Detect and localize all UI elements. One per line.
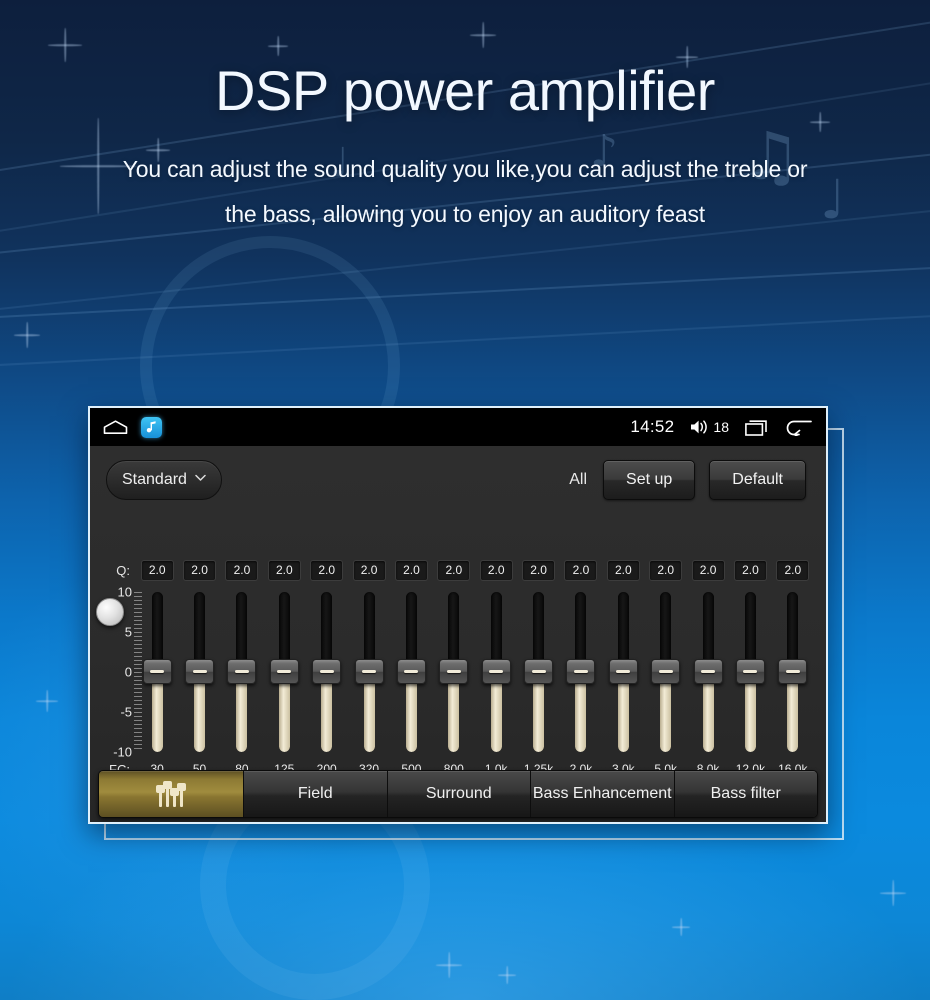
q-cell: 2.0 [221,560,263,581]
recents-icon[interactable] [745,419,769,436]
fader-fill [660,672,671,752]
fader-thumb[interactable] [439,659,468,684]
fader[interactable] [602,588,644,756]
fader-fill [236,672,247,752]
page-title: DSP power amplifier [0,62,930,121]
q-value-box[interactable]: 2.0 [564,560,597,581]
fader[interactable] [687,588,729,756]
scale-label: -5 [90,705,132,720]
q-cell: 2.0 [517,560,559,581]
all-label[interactable]: All [569,471,589,489]
dsp-equalizer-app: Standard All Set up Default Q: 2.02.02.0… [90,446,826,824]
fader-fill [406,672,417,752]
music-app-icon[interactable] [141,417,162,438]
fader-fill [321,672,332,752]
q-cell: 2.0 [602,560,644,581]
fader-thumb[interactable] [778,659,807,684]
q-value-box[interactable]: 2.0 [141,560,174,581]
q-value-box[interactable]: 2.0 [183,560,216,581]
sparkle-icon [14,322,40,348]
back-icon[interactable] [785,419,812,436]
android-status-bar: 14:52 18 [90,408,826,446]
equalizer-icon [159,781,183,807]
fader-fill [194,672,205,752]
q-value-box[interactable]: 2.0 [310,560,343,581]
fader[interactable] [306,588,348,756]
fader[interactable] [517,588,559,756]
fader[interactable] [772,588,814,756]
fader-fill [618,672,629,752]
q-value-box[interactable]: 2.0 [437,560,470,581]
fader-thumb[interactable] [566,659,595,684]
q-cell: 2.0 [772,560,814,581]
fader-fill [575,672,586,752]
q-value-box[interactable]: 2.0 [734,560,767,581]
q-cell: 2.0 [178,560,220,581]
fader-thumb[interactable] [524,659,553,684]
fader-fill [364,672,375,752]
sparkle-icon [880,880,906,906]
fader[interactable] [645,588,687,756]
staff-band [0,262,930,368]
fader-fill [152,672,163,752]
sparkle-icon [498,966,516,984]
sparkle-icon [470,22,496,48]
fader[interactable] [221,588,263,756]
fader-thumb[interactable] [694,659,723,684]
q-cell: 2.0 [475,560,517,581]
q-cell: 2.0 [560,560,602,581]
q-value-box[interactable]: 2.0 [692,560,725,581]
fader[interactable] [560,588,602,756]
fader-fill [703,672,714,752]
fader-fill [279,672,290,752]
fader-thumb[interactable] [651,659,680,684]
subtitle-line-2: the bass, allowing you to enjoy an audit… [0,192,930,238]
preset-label: Standard [122,471,187,489]
q-value-box[interactable]: 2.0 [268,560,301,581]
scale-label: 5 [90,625,132,640]
q-value-box[interactable]: 2.0 [776,560,809,581]
subtitle-line-1: You can adjust the sound quality you lik… [123,156,808,182]
master-gain-knob[interactable] [96,598,124,626]
q-cell: 2.0 [729,560,771,581]
q-cell: 2.0 [136,560,178,581]
fader-thumb[interactable] [185,659,214,684]
q-value-box[interactable]: 2.0 [225,560,258,581]
fader-fill [745,672,756,752]
promo-header: DSP power amplifier You can adjust the s… [0,62,930,238]
fader-thumb[interactable] [355,659,384,684]
tab-equalizer[interactable] [99,771,244,817]
fader-list [136,588,826,756]
volume-level: 18 [713,419,729,435]
q-cell: 2.0 [645,560,687,581]
preset-dropdown[interactable]: Standard [106,460,222,500]
fader-thumb[interactable] [312,659,341,684]
promo-page: ♫ ♩ ♪ ♩ DSP power amplifier You can adju… [0,0,930,1000]
q-cell: 2.0 [263,560,305,581]
tab-bass-filter[interactable]: Bass filter [675,771,818,817]
page-subtitle: You can adjust the sound quality you lik… [0,147,930,238]
sparkle-icon [36,690,58,712]
sparkle-icon [48,28,82,62]
q-cell: 2.0 [306,560,348,581]
bottom-tab-bar: FieldSurroundBass EnhancementBass filter [98,770,818,818]
fader-thumb[interactable] [270,659,299,684]
equalizer-toolbar: Standard All Set up Default [90,456,826,504]
q-value-box[interactable]: 2.0 [607,560,640,581]
q-value-box[interactable]: 2.0 [522,560,555,581]
q-cell: 2.0 [348,560,390,581]
q-value-box[interactable]: 2.0 [353,560,386,581]
fader[interactable] [433,588,475,756]
fader[interactable] [348,588,390,756]
fader-thumb[interactable] [227,659,256,684]
fader-thumb[interactable] [143,659,172,684]
fader-thumb[interactable] [736,659,765,684]
fader[interactable] [136,588,178,756]
fader-thumb[interactable] [397,659,426,684]
fader-fill [491,672,502,752]
volume-icon[interactable]: 18 [690,419,729,435]
status-clock: 14:52 [630,417,674,437]
fader[interactable] [263,588,305,756]
tab-field[interactable]: Field [244,771,388,817]
q-cell: 2.0 [390,560,432,581]
gain-scale: 1050-5-10 [90,588,136,756]
tab-bass-enhancement[interactable]: Bass Enhancement [531,771,675,817]
sparkle-icon [268,36,288,56]
q-row: Q: 2.02.02.02.02.02.02.02.02.02.02.02.02… [90,558,826,582]
fader[interactable] [729,588,771,756]
fader[interactable] [390,588,432,756]
q-cell: 2.0 [433,560,475,581]
fader[interactable] [475,588,517,756]
fader[interactable] [178,588,220,756]
fader-thumb[interactable] [482,659,511,684]
tab-label: Bass Enhancement [533,785,672,803]
tab-label: Surround [426,785,492,803]
q-value-box[interactable]: 2.0 [480,560,513,581]
default-button[interactable]: Default [709,460,806,500]
sparkle-icon [436,952,462,978]
q-value-box[interactable]: 2.0 [649,560,682,581]
sparkle-icon [672,918,690,936]
q-value-box[interactable]: 2.0 [395,560,428,581]
head-unit-device: 14:52 18 [88,406,828,824]
fader-fill [787,672,798,752]
fader-area: 1050-5-10 [90,588,826,756]
q-row-label: Q: [90,563,136,578]
scale-label: 10 [90,585,132,600]
q-cell: 2.0 [687,560,729,581]
tab-label: Field [298,785,333,803]
scale-label: 0 [90,665,132,680]
setup-button[interactable]: Set up [603,460,695,500]
fader-fill [448,672,459,752]
home-icon[interactable] [103,420,128,434]
q-value-list: 2.02.02.02.02.02.02.02.02.02.02.02.02.02… [136,560,826,581]
fader-thumb[interactable] [609,659,638,684]
tab-surround[interactable]: Surround [388,771,532,817]
fader-fill [533,672,544,752]
tab-label: Bass filter [711,785,781,803]
chevron-down-icon [195,474,205,484]
